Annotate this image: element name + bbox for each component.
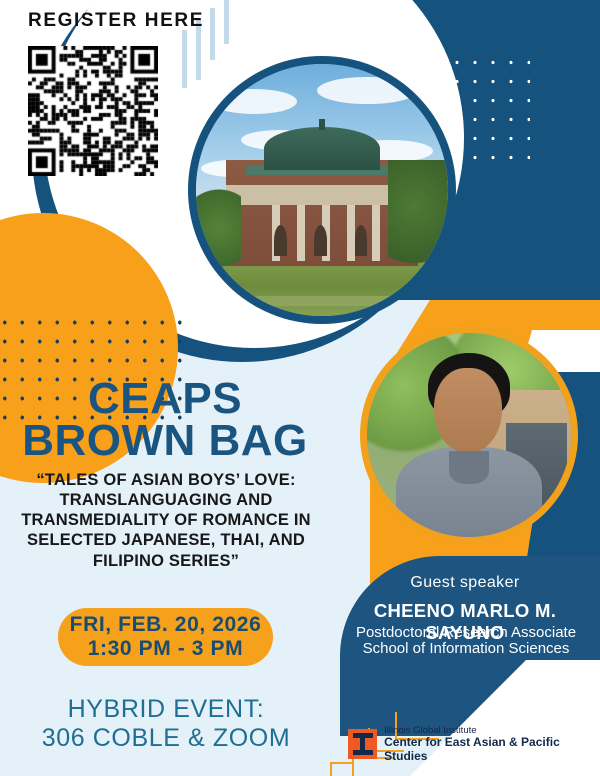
guest-speaker-label: Guest speaker [340, 574, 590, 592]
vertical-bar-decoration [224, 0, 229, 44]
building-photo [196, 64, 448, 316]
qr-code[interactable] [28, 46, 158, 176]
title-line-2: BROWN BAG [0, 420, 330, 462]
event-time: 1:30 PM - 3 PM [88, 637, 243, 661]
event-poster: REGISTER HERE CEAPS BROWN BAG “TALES OF … [0, 0, 600, 776]
illinois-logo: Illinois Global Institute Center for Eas… [348, 726, 600, 763]
register-here-label: REGISTER HERE [28, 10, 204, 32]
venue-info: HYBRID EVENT: 306 COBLE & ZOOM [10, 695, 322, 752]
speaker-role: Postdoctoral Research Associate School o… [350, 625, 582, 657]
bracket-decoration [330, 762, 354, 776]
page-title: CEAPS BROWN BAG [0, 378, 330, 462]
vertical-bar-decoration [182, 30, 187, 88]
vertical-bar-decoration [210, 8, 215, 60]
venue-line-2: 306 COBLE & ZOOM [10, 724, 322, 753]
block-i-icon [348, 729, 377, 759]
speaker-portrait [367, 333, 571, 537]
logo-center-name: Center for East Asian & Pacific Studies [384, 736, 600, 762]
date-time-badge: FRI, FEB. 20, 2026 1:30 PM - 3 PM [58, 608, 273, 666]
talk-subtitle: “TALES OF ASIAN BOYS’ LOVE: TRANSLANGUAG… [8, 470, 324, 571]
event-date: FRI, FEB. 20, 2026 [70, 613, 262, 637]
venue-line-1: HYBRID EVENT: [10, 695, 322, 724]
dot-grid-decoration-top-right [448, 53, 530, 163]
